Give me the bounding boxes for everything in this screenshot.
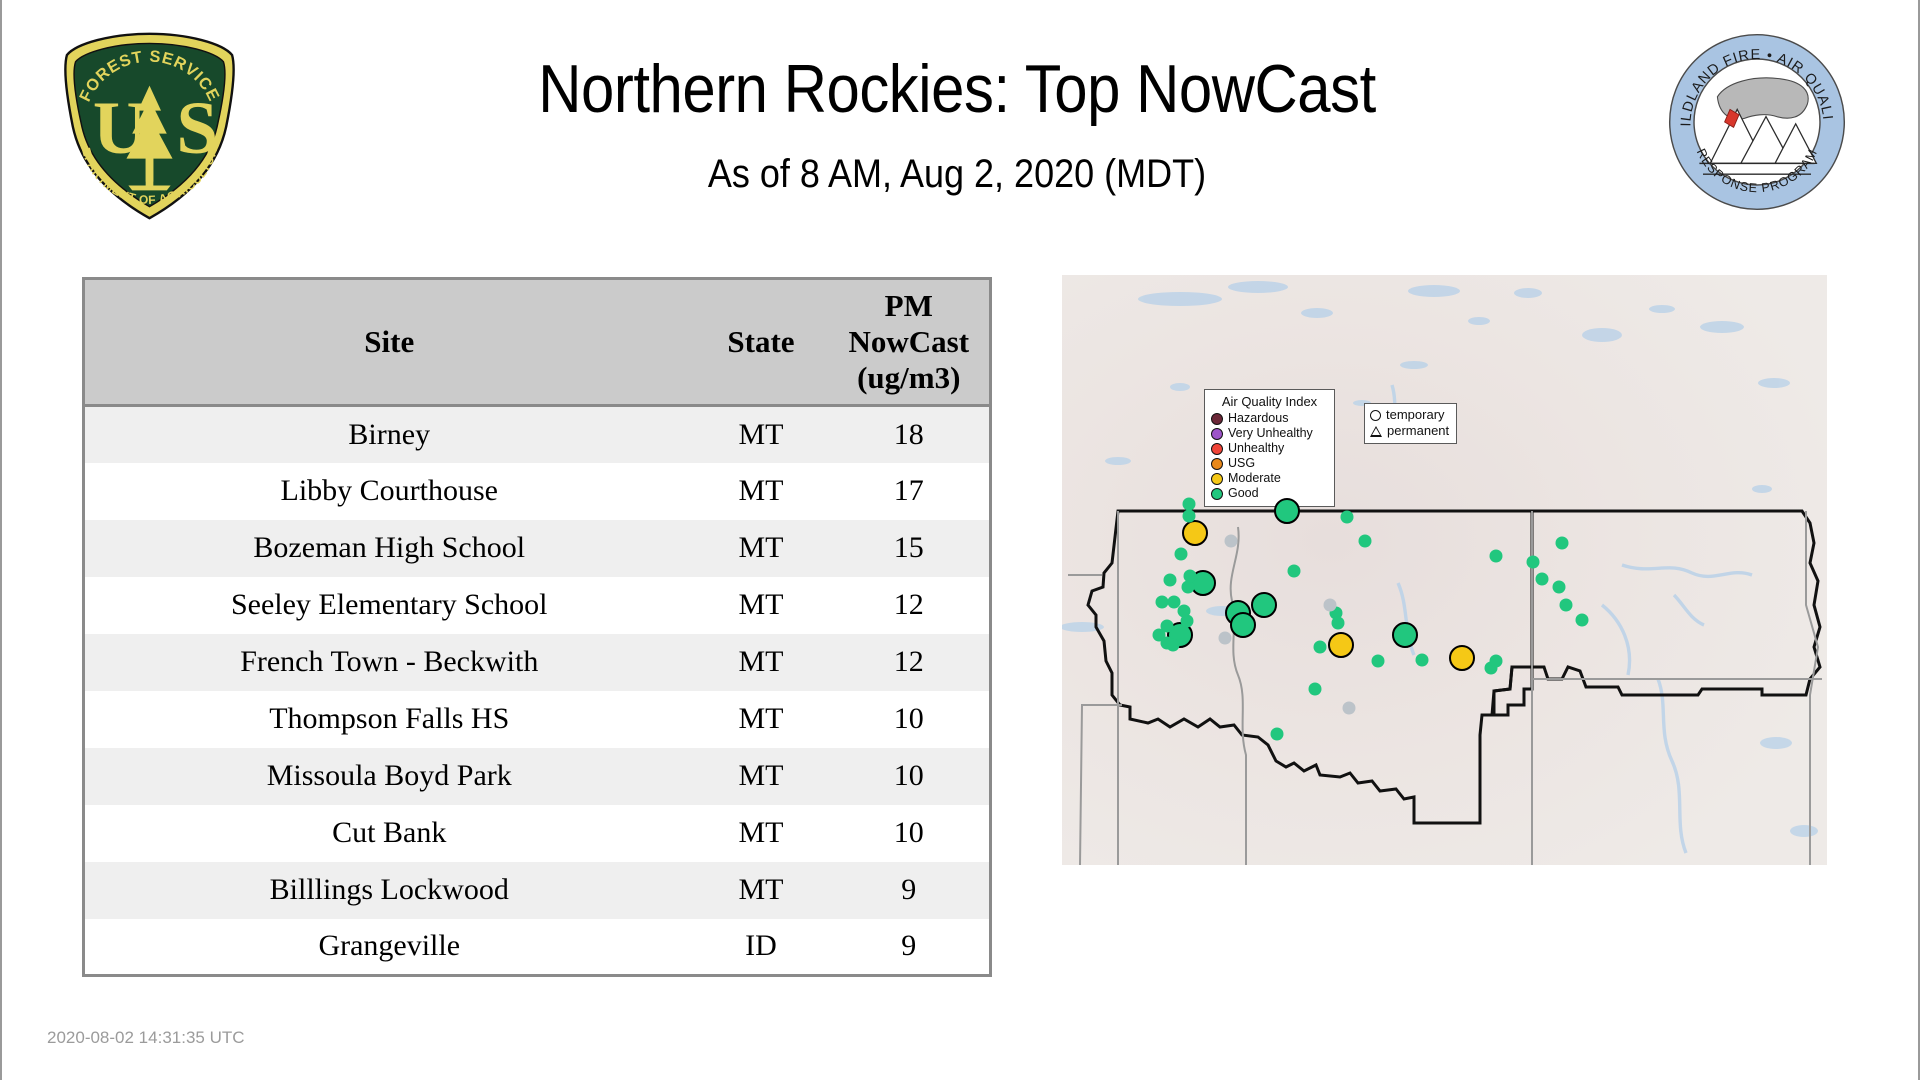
monitor-marker[interactable]: [1527, 556, 1540, 569]
monitor-marker[interactable]: [1271, 728, 1284, 741]
aqi-legend-label: Moderate: [1228, 471, 1281, 486]
table-cell-state: MT: [694, 577, 829, 634]
monitor-marker[interactable]: [1184, 570, 1197, 583]
monitor-marker[interactable]: [1274, 498, 1300, 524]
monitor-marker[interactable]: [1372, 655, 1385, 668]
table-cell-site: French Town - Beckwith: [84, 634, 694, 691]
monitor-marker[interactable]: [1343, 702, 1356, 715]
table-row: Cut BankMT10: [84, 805, 991, 862]
circle-icon: [1370, 410, 1381, 421]
map-terrain-basemap: [1062, 275, 1827, 865]
table-cell-state: MT: [694, 463, 829, 520]
monitor-marker[interactable]: [1175, 548, 1188, 561]
column-header-state: State: [694, 279, 829, 406]
monitor-marker[interactable]: [1251, 592, 1277, 618]
aqi-legend: Air Quality Index HazardousVery Unhealth…: [1204, 389, 1335, 507]
table-cell-state: MT: [694, 748, 829, 805]
monitor-marker[interactable]: [1219, 632, 1232, 645]
table-row: GrangevilleID9: [84, 919, 991, 976]
table-cell-site: Cut Bank: [84, 805, 694, 862]
table-row: Bozeman High SchoolMT15: [84, 520, 991, 577]
aqi-legend-title: Air Quality Index: [1211, 394, 1328, 409]
aqi-legend-label: Very Unhealthy: [1228, 426, 1313, 441]
wfaqrp-logo: WILDLAND FIRE • AIR QUALITY RESPONSE PRO…: [1667, 32, 1847, 212]
table-cell-pm: 12: [829, 577, 991, 634]
aqi-color-swatch-icon: [1211, 428, 1223, 440]
air-quality-monitor-map[interactable]: Air Quality Index HazardousVery Unhealth…: [1062, 275, 1827, 865]
monitor-marker[interactable]: [1449, 645, 1475, 671]
table-cell-state: MT: [694, 691, 829, 748]
aqi-legend-item: USG: [1211, 456, 1328, 471]
page-subtitle: As of 8 AM, Aug 2, 2020 (MDT): [323, 150, 1592, 198]
generation-timestamp: 2020-08-02 14:31:35 UTC: [47, 1028, 245, 1048]
table-cell-pm: 10: [829, 748, 991, 805]
table-cell-pm: 9: [829, 919, 991, 976]
table-cell-state: MT: [694, 520, 829, 577]
monitor-marker[interactable]: [1225, 535, 1238, 548]
table-cell-site: Thompson Falls HS: [84, 691, 694, 748]
table-row: Missoula Boyd ParkMT10: [84, 748, 991, 805]
aqi-legend-label: Unhealthy: [1228, 441, 1284, 456]
table-cell-site: Seeley Elementary School: [84, 577, 694, 634]
table-cell-state: MT: [694, 406, 829, 463]
table-row: French Town - BeckwithMT12: [84, 634, 991, 691]
legend-temporary-row: temporary: [1370, 407, 1449, 423]
table-cell-site: Bozeman High School: [84, 520, 694, 577]
table-cell-state: MT: [694, 634, 829, 691]
monitor-marker[interactable]: [1183, 510, 1196, 523]
monitor-marker[interactable]: [1309, 683, 1322, 696]
table-cell-pm: 12: [829, 634, 991, 691]
aqi-legend-item: Moderate: [1211, 471, 1328, 486]
table-header-row: Site State PM NowCast (ug/m3): [84, 279, 991, 406]
forest-service-shield-icon: FOREST SERVICE U S DEPARTMENT OF AGRICUL…: [52, 30, 247, 222]
table-cell-site: Missoula Boyd Park: [84, 748, 694, 805]
aqi-color-swatch-icon: [1211, 458, 1223, 470]
table-cell-state: MT: [694, 805, 829, 862]
monitor-marker[interactable]: [1392, 622, 1418, 648]
monitor-marker[interactable]: [1560, 599, 1573, 612]
table-cell-pm: 9: [829, 862, 991, 919]
monitor-marker[interactable]: [1288, 565, 1301, 578]
table-cell-pm: 10: [829, 691, 991, 748]
triangle-icon: [1370, 426, 1382, 437]
monitor-marker[interactable]: [1182, 581, 1195, 594]
table-header: Site State PM NowCast (ug/m3): [84, 279, 991, 406]
legend-permanent-label: permanent: [1387, 423, 1449, 439]
table-row: Seeley Elementary SchoolMT12: [84, 577, 991, 634]
nowcast-table: Site State PM NowCast (ug/m3) BirneyMT18…: [82, 277, 992, 977]
table-cell-state: MT: [694, 862, 829, 919]
monitor-marker[interactable]: [1332, 617, 1345, 630]
monitor-marker[interactable]: [1182, 520, 1208, 546]
column-header-pm-line3: (ug/m3): [833, 360, 986, 396]
table-row: Billlings LockwoodMT9: [84, 862, 991, 919]
aqi-legend-item: Very Unhealthy: [1211, 426, 1328, 441]
column-header-pm-nowcast: PM NowCast (ug/m3): [829, 279, 991, 406]
monitor-marker[interactable]: [1341, 511, 1354, 524]
legend-temporary-label: temporary: [1386, 407, 1445, 423]
table-cell-pm: 15: [829, 520, 991, 577]
monitor-marker[interactable]: [1553, 581, 1566, 594]
aqi-legend-item: Unhealthy: [1211, 441, 1328, 456]
aqi-color-swatch-icon: [1211, 473, 1223, 485]
table-cell-pm: 18: [829, 406, 991, 463]
aqi-legend-item: Good: [1211, 486, 1328, 501]
column-header-pm-line1: PM: [833, 288, 986, 324]
monitor-marker[interactable]: [1164, 574, 1177, 587]
table-cell-site: Billlings Lockwood: [84, 862, 694, 919]
table-cell-state: ID: [694, 919, 829, 976]
monitor-marker[interactable]: [1178, 605, 1191, 618]
monitor-marker[interactable]: [1416, 654, 1429, 667]
table-body: BirneyMT18Libby CourthouseMT17Bozeman Hi…: [84, 406, 991, 976]
monitor-marker[interactable]: [1230, 612, 1256, 638]
aqi-legend-label: USG: [1228, 456, 1255, 471]
monitor-marker[interactable]: [1556, 537, 1569, 550]
monitor-marker[interactable]: [1314, 641, 1327, 654]
legend-permanent-row: permanent: [1370, 423, 1449, 439]
aqi-legend-item: Hazardous: [1211, 411, 1328, 426]
table-cell-pm: 17: [829, 463, 991, 520]
slide-page: FOREST SERVICE U S DEPARTMENT OF AGRICUL…: [0, 0, 1920, 1080]
monitor-marker[interactable]: [1576, 614, 1589, 627]
table-row: Libby CourthouseMT17: [84, 463, 991, 520]
monitor-marker[interactable]: [1490, 550, 1503, 563]
aqi-legend-items: HazardousVery UnhealthyUnhealthyUSGModer…: [1211, 411, 1328, 501]
monitor-type-legend: temporary permanent: [1364, 403, 1457, 444]
forest-service-logo: FOREST SERVICE U S DEPARTMENT OF AGRICUL…: [52, 30, 247, 222]
table-row: Thompson Falls HSMT10: [84, 691, 991, 748]
aqi-color-swatch-icon: [1211, 443, 1223, 455]
monitor-marker[interactable]: [1324, 599, 1337, 612]
monitor-marker[interactable]: [1490, 655, 1503, 668]
page-title: Northern Rockies: Top NowCast: [337, 50, 1578, 128]
table-cell-site: Birney: [84, 406, 694, 463]
aqi-legend-label: Hazardous: [1228, 411, 1288, 426]
column-header-pm-line2: NowCast: [833, 324, 986, 360]
table-row: BirneyMT18: [84, 406, 991, 463]
nowcast-table-container: Site State PM NowCast (ug/m3) BirneyMT18…: [82, 277, 992, 977]
monitor-marker[interactable]: [1328, 632, 1354, 658]
table-cell-site: Libby Courthouse: [84, 463, 694, 520]
table-cell-site: Grangeville: [84, 919, 694, 976]
monitor-marker[interactable]: [1167, 639, 1180, 652]
table-cell-pm: 10: [829, 805, 991, 862]
aqi-color-swatch-icon: [1211, 413, 1223, 425]
aqi-color-swatch-icon: [1211, 488, 1223, 500]
column-header-site: Site: [84, 279, 694, 406]
monitor-marker[interactable]: [1536, 573, 1549, 586]
monitor-marker[interactable]: [1359, 535, 1372, 548]
aqi-legend-label: Good: [1228, 486, 1259, 501]
wildland-fire-air-quality-icon: WILDLAND FIRE • AIR QUALITY RESPONSE PRO…: [1667, 32, 1847, 212]
